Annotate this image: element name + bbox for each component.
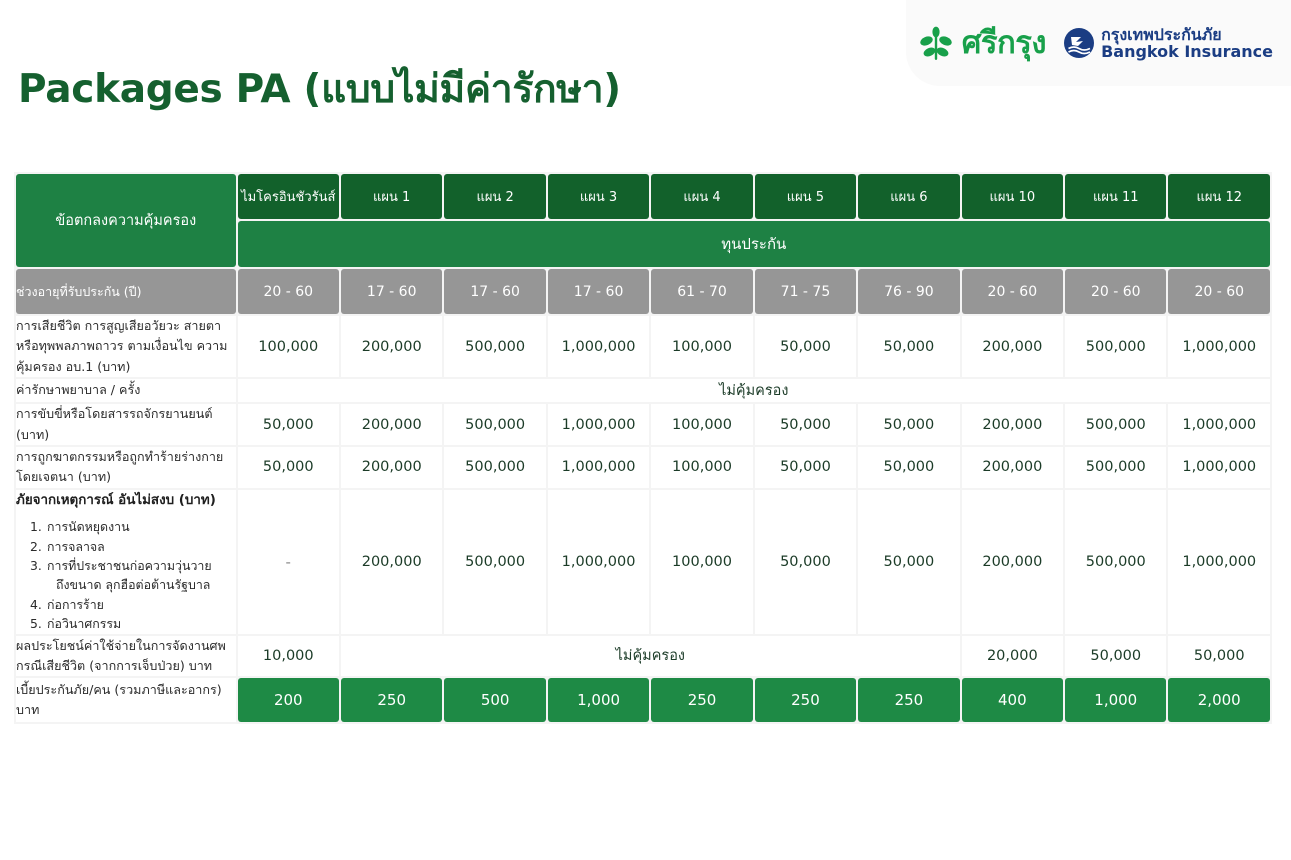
funeral-row-label: ผลประโยชน์ค่าใช้จ่ายในการจัดงานศพ กรณีเส… — [16, 636, 236, 677]
cell-r1-c4: 1,000,000 — [548, 316, 649, 377]
risk-list-item: ก่อวินาศกรรม — [30, 614, 236, 633]
cell-r3-c4: 1,000,000 — [548, 404, 649, 445]
plan-header-1[interactable]: ไมโครอินชัวรันส์ — [238, 174, 339, 219]
funeral-tail-value-2: 50,000 — [1065, 636, 1166, 677]
table-row: ค่ารักษาพยาบาล / ครั้งไม่คุ้มครอง — [16, 379, 1270, 402]
cell-r4-c2: 200,000 — [341, 447, 442, 488]
plan-header-9[interactable]: แผน 11 — [1065, 174, 1166, 219]
risk-list-item-cont: ถึงขนาด ลุกฮือต่อต้านรัฐบาล — [47, 575, 236, 594]
cell-r3-c1: 50,000 — [238, 404, 339, 445]
plan-header-7[interactable]: แผน 6 — [858, 174, 959, 219]
funeral-value-1: 10,000 — [238, 636, 339, 677]
risk-list-item: การจลาจล — [30, 537, 236, 556]
sum-insured-band: ทุนประกัน — [238, 221, 1270, 267]
table-row: การขับขี่หรือโดยสารรถจักรยานยนต์ (บาท)50… — [16, 404, 1270, 445]
bird-wave-icon — [1064, 28, 1094, 58]
cell-r1-c2: 200,000 — [341, 316, 442, 377]
bangkok-insurance-logo: กรุงเทพประกันภัย Bangkok Insurance — [1064, 26, 1273, 61]
cell-r1-c9: 500,000 — [1065, 316, 1166, 377]
plan-header-10[interactable]: แผน 12 — [1168, 174, 1270, 219]
cell-r3-c3: 500,000 — [444, 404, 545, 445]
plan-header-5[interactable]: แผน 4 — [651, 174, 752, 219]
cell-r3-c6: 50,000 — [755, 404, 856, 445]
cell-r5-c2: 200,000 — [341, 490, 442, 634]
row-label-5: ภัยจากเหตุการณ์ อันไม่สงบ (บาท)การนัดหยุ… — [16, 490, 236, 634]
age-range-value-2: 17 - 60 — [341, 269, 442, 314]
risk-list-item: ก่อการร้าย — [30, 595, 236, 614]
cell-r4-c8: 200,000 — [962, 447, 1063, 488]
cell-r4-c9: 500,000 — [1065, 447, 1166, 488]
premium-value-7: 250 — [858, 678, 959, 722]
sri-krung-logo: ศรีกรุง — [919, 25, 1046, 61]
cell-r3-c9: 500,000 — [1065, 404, 1166, 445]
premium-value-3: 500 — [444, 678, 545, 722]
cell-r3-c2: 200,000 — [341, 404, 442, 445]
premium-value-8: 400 — [962, 678, 1063, 722]
cell-r3-c10: 1,000,000 — [1168, 404, 1270, 445]
age-range-value-9: 20 - 60 — [1065, 269, 1166, 314]
leaf-icon — [919, 25, 953, 61]
plan-header-8[interactable]: แผน 10 — [962, 174, 1063, 219]
cell-r4-c7: 50,000 — [858, 447, 959, 488]
plan-header-2[interactable]: แผน 1 — [341, 174, 442, 219]
cell-r3-c5: 100,000 — [651, 404, 752, 445]
funeral-tail-value-1: 20,000 — [962, 636, 1063, 677]
age-range-value-1: 20 - 60 — [238, 269, 339, 314]
funeral-not-covered-note: ไม่คุ้มครอง — [341, 636, 960, 677]
cell-r5-c6: 50,000 — [755, 490, 856, 634]
cell-r1-c5: 100,000 — [651, 316, 752, 377]
premium-value-4: 1,000 — [548, 678, 649, 722]
cell-r5-c1: - — [238, 490, 339, 634]
age-range-value-6: 71 - 75 — [755, 269, 856, 314]
logo-bar: ศรีกรุง กรุงเทพประกันภัย Bangkok Insuran… — [906, 0, 1291, 86]
table-row: การเสียชีวิต การสูญเสียอวัยวะ สายตา หรือ… — [16, 316, 1270, 377]
cell-r4-c10: 1,000,000 — [1168, 447, 1270, 488]
coverage-column-header: ข้อตกลงความคุ้มครอง — [16, 174, 236, 267]
plan-header-3[interactable]: แผน 2 — [444, 174, 545, 219]
premium-value-2: 250 — [341, 678, 442, 722]
cell-r1-c7: 50,000 — [858, 316, 959, 377]
age-range-row: ช่วงอายุที่รับประกัน (ปี)20 - 6017 - 601… — [16, 269, 1270, 314]
cell-r3-c8: 200,000 — [962, 404, 1063, 445]
row-label-title: ภัยจากเหตุการณ์ อันไม่สงบ (บาท) — [16, 490, 236, 512]
bangkok-insurance-wordmark: กรุงเทพประกันภัย Bangkok Insurance — [1101, 26, 1273, 61]
row-label-3: การขับขี่หรือโดยสารรถจักรยานยนต์ (บาท) — [16, 404, 236, 445]
premium-row: เบี้ยประกันภัย/คน (รวมภาษีและอากร) บาท20… — [16, 678, 1270, 722]
coverage-table: ข้อตกลงความคุ้มครองไมโครอินชัวรันส์แผน 1… — [14, 172, 1272, 724]
table-header-row: ข้อตกลงความคุ้มครองไมโครอินชัวรันส์แผน 1… — [16, 174, 1270, 219]
funeral-benefit-row: ผลประโยชน์ค่าใช้จ่ายในการจัดงานศพ กรณีเส… — [16, 636, 1270, 677]
cell-r5-c5: 100,000 — [651, 490, 752, 634]
cell-r5-c4: 1,000,000 — [548, 490, 649, 634]
cell-r5-c8: 200,000 — [962, 490, 1063, 634]
age-range-value-4: 17 - 60 — [548, 269, 649, 314]
age-range-label: ช่วงอายุที่รับประกัน (ปี) — [16, 269, 236, 314]
row-label-4: การถูกฆาตกรรมหรือถูกทำร้ายร่างกาย โดยเจต… — [16, 447, 236, 488]
cell-r3-c7: 50,000 — [858, 404, 959, 445]
premium-row-label: เบี้ยประกันภัย/คน (รวมภาษีและอากร) บาท — [16, 678, 236, 722]
premium-value-5: 250 — [651, 678, 752, 722]
risk-list: การนัดหยุดงานการจลาจลการที่ประชาชนก่อควา… — [16, 517, 236, 633]
cell-r4-c1: 50,000 — [238, 447, 339, 488]
cell-r1-c8: 200,000 — [962, 316, 1063, 377]
cell-r4-c6: 50,000 — [755, 447, 856, 488]
bi-name-en: Bangkok Insurance — [1101, 42, 1273, 61]
cell-r4-c5: 100,000 — [651, 447, 752, 488]
cell-r5-c10: 1,000,000 — [1168, 490, 1270, 634]
cell-r4-c4: 1,000,000 — [548, 447, 649, 488]
risk-list-item: การนัดหยุดงาน — [30, 517, 236, 536]
cell-r1-c6: 50,000 — [755, 316, 856, 377]
sri-krung-wordmark: ศรีกรุง — [962, 28, 1046, 59]
slide-page: ศรีกรุง กรุงเทพประกันภัย Bangkok Insuran… — [0, 0, 1291, 860]
risk-list-item: การที่ประชาชนก่อความวุ่นวายถึงขนาด ลุกฮื… — [30, 556, 236, 595]
cell-r1-c1: 100,000 — [238, 316, 339, 377]
age-range-value-10: 20 - 60 — [1168, 269, 1270, 314]
table-row: การถูกฆาตกรรมหรือถูกทำร้ายร่างกาย โดยเจต… — [16, 447, 1270, 488]
table-row: ภัยจากเหตุการณ์ อันไม่สงบ (บาท)การนัดหยุ… — [16, 490, 1270, 634]
premium-value-9: 1,000 — [1065, 678, 1166, 722]
row-label-1: การเสียชีวิต การสูญเสียอวัยวะ สายตา หรือ… — [16, 316, 236, 377]
page-title: Packages PA (แบบไม่มีค่ารักษา) — [18, 58, 621, 120]
age-range-value-3: 17 - 60 — [444, 269, 545, 314]
age-range-value-8: 20 - 60 — [962, 269, 1063, 314]
plan-header-4[interactable]: แผน 3 — [548, 174, 649, 219]
cell-r1-c10: 1,000,000 — [1168, 316, 1270, 377]
cell-r4-c3: 500,000 — [444, 447, 545, 488]
coverage-table-body: ข้อตกลงความคุ้มครองไมโครอินชัวรันส์แผน 1… — [16, 174, 1270, 722]
cell-r5-c7: 50,000 — [858, 490, 959, 634]
funeral-tail-value-3: 50,000 — [1168, 636, 1270, 677]
coverage-table-wrapper: ข้อตกลงความคุ้มครองไมโครอินชัวรันส์แผน 1… — [14, 172, 1272, 859]
row-label-2: ค่ารักษาพยาบาล / ครั้ง — [16, 379, 236, 402]
age-range-value-7: 76 - 90 — [858, 269, 959, 314]
cell-r5-c9: 500,000 — [1065, 490, 1166, 634]
premium-value-10: 2,000 — [1168, 678, 1270, 722]
plan-header-6[interactable]: แผน 5 — [755, 174, 856, 219]
age-range-value-5: 61 - 70 — [651, 269, 752, 314]
cell-r1-c3: 500,000 — [444, 316, 545, 377]
premium-value-6: 250 — [755, 678, 856, 722]
cell-r5-c3: 500,000 — [444, 490, 545, 634]
premium-value-1: 200 — [238, 678, 339, 722]
bi-name-th: กรุงเทพประกันภัย — [1101, 25, 1222, 44]
row-span-note: ไม่คุ้มครอง — [238, 379, 1270, 402]
